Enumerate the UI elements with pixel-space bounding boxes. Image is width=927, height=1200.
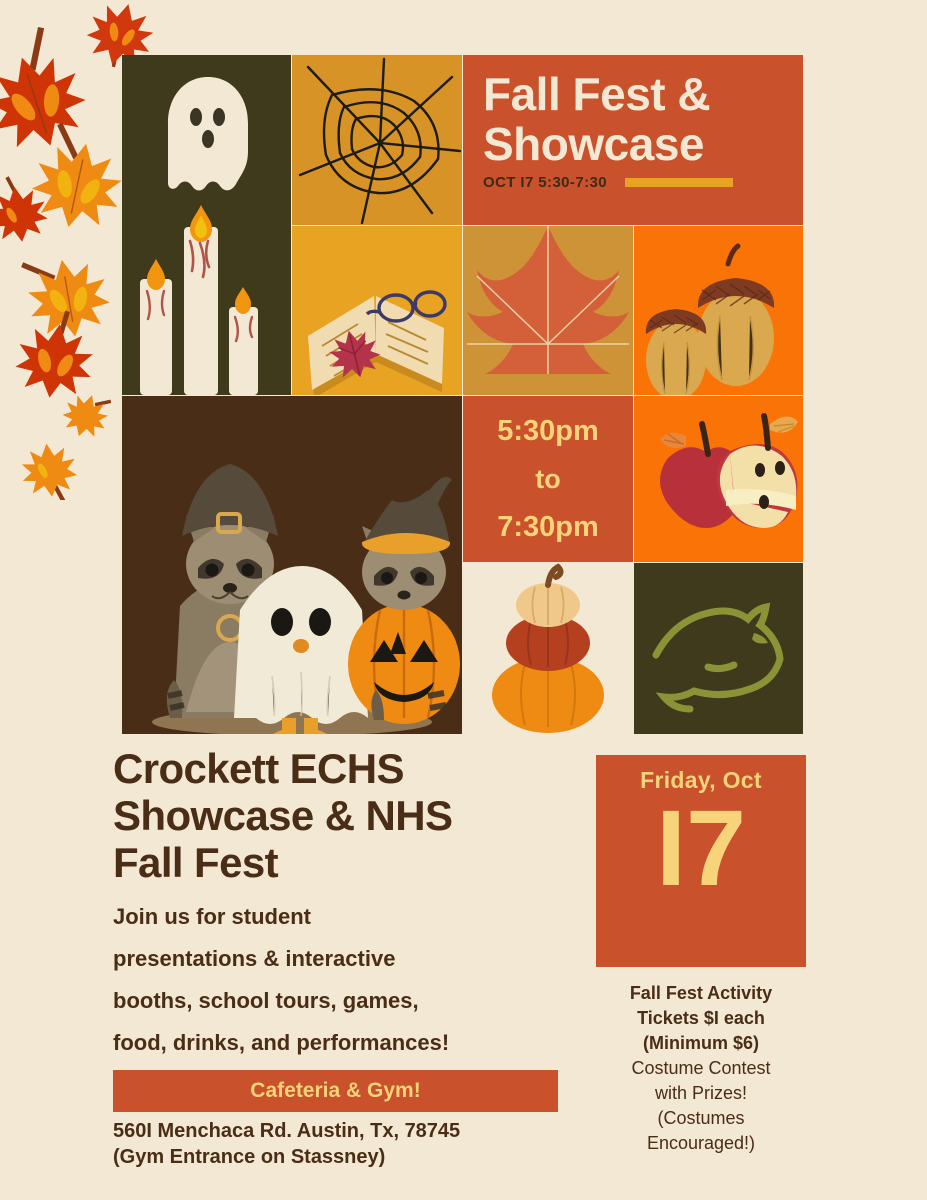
ticket-line: (Minimum $6) [596, 1031, 806, 1056]
panther-mascot-tile [634, 563, 803, 734]
time-start: 5:30pm [497, 415, 599, 448]
right-column: Friday, Oct I7 Fall Fest Activity Ticket… [596, 755, 806, 1156]
address-line1: 560I Menchaca Rd. Austin, Tx, 78745 [113, 1118, 568, 1144]
headline-line3: Fall Fest [113, 839, 278, 886]
description-line: Join us for student [113, 896, 568, 938]
venue-banner: Cafeteria & Gym! [113, 1070, 558, 1112]
photo-collage-grid: Fall Fest & Showcase OCT I7 5:30-7:30 [122, 55, 803, 734]
date-day-number: I7 [656, 796, 746, 900]
stacked-pumpkins-tile [463, 563, 633, 734]
poster-title-line1: Fall Fest & [483, 69, 803, 119]
ticket-info: Fall Fest Activity Tickets $I each (Mini… [596, 981, 806, 1156]
open-book-tile [292, 226, 462, 395]
time-connector: to [535, 464, 560, 495]
description-line: booths, school tours, games, [113, 980, 568, 1022]
poster-subtitle: OCT I7 5:30-7:30 [483, 174, 607, 191]
description-text: Join us for student presentations & inte… [113, 896, 568, 1064]
description-line: food, drinks, and performances! [113, 1022, 568, 1064]
headline-line2: Showcase & NHS [113, 792, 452, 839]
ticket-line: with Prizes! [596, 1081, 806, 1106]
ticket-line: Encouraged!) [596, 1131, 806, 1156]
fall-fest-poster: Fall Fest & Showcase OCT I7 5:30-7:30 [0, 0, 927, 1200]
time-tile: 5:30pm to 7:30pm [463, 396, 633, 562]
ticket-line: Fall Fest Activity [596, 981, 806, 1006]
address-block: 560I Menchaca Rd. Austin, Tx, 78745 (Gym… [113, 1118, 568, 1170]
poster-title-line2: Showcase [483, 119, 803, 169]
ticket-line: Tickets $I each [596, 1006, 806, 1031]
left-column: Crockett ECHS Showcase & NHS Fall Fest J… [113, 745, 568, 1170]
page-title: Crockett ECHS Showcase & NHS Fall Fest [113, 745, 568, 886]
title-tile: Fall Fest & Showcase OCT I7 5:30-7:30 [463, 55, 803, 225]
costume-photo-tile [122, 396, 462, 734]
ticket-line: (Costumes [596, 1106, 806, 1131]
apples-tile [634, 396, 803, 562]
maple-leaf-tile [463, 226, 633, 395]
time-end: 7:30pm [497, 511, 599, 544]
ghost-and-candles-tile [122, 55, 291, 395]
date-card: Friday, Oct I7 [596, 755, 806, 967]
description-line: presentations & interactive [113, 938, 568, 980]
address-line2: (Gym Entrance on Stassney) [113, 1144, 568, 1170]
poster-body: Crockett ECHS Showcase & NHS Fall Fest J… [0, 745, 927, 1200]
acorns-tile [634, 226, 803, 395]
spiderweb-tile [292, 55, 462, 225]
ticket-line: Costume Contest [596, 1056, 806, 1081]
headline-line1: Crockett ECHS [113, 745, 404, 792]
accent-bar [625, 178, 733, 187]
